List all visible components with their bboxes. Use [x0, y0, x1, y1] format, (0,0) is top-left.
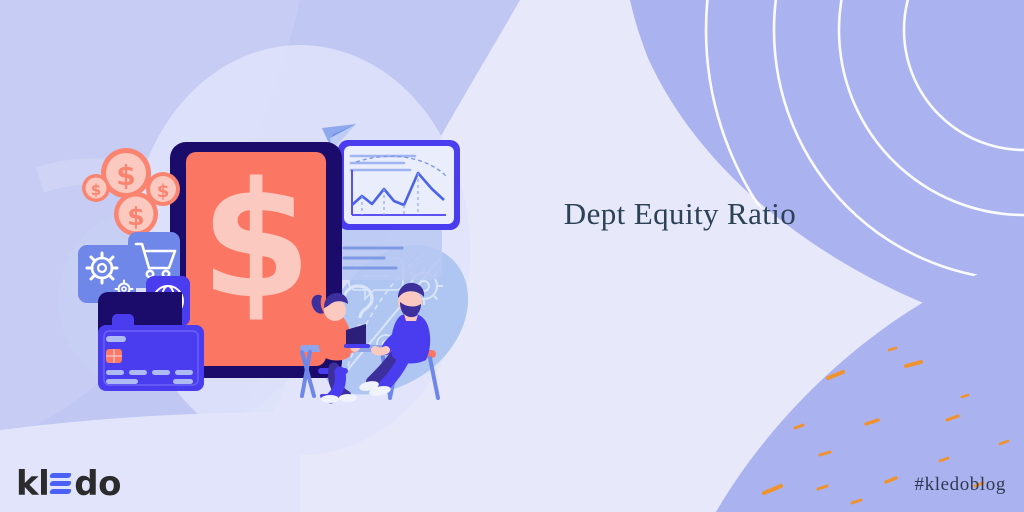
- svg-text:$: $: [91, 181, 101, 199]
- svg-text:$: $: [157, 181, 170, 202]
- page-title: Dept Equity Ratio: [430, 196, 930, 232]
- finance-dashboard-illustration: $ $ $ $ $: [0, 0, 1024, 512]
- kledo-logo[interactable]: kl do: [16, 464, 121, 504]
- svg-text:$: $: [116, 159, 135, 192]
- logo-text-before: kl: [16, 467, 49, 501]
- logo-text-after: do: [74, 467, 121, 501]
- credit-card: [98, 325, 204, 391]
- blog-banner: $ $ $ $ $: [0, 0, 1024, 512]
- coin: $: [82, 174, 110, 202]
- logo-e-mark-icon: [50, 471, 72, 497]
- dollar-sign-icon: $: [200, 147, 311, 334]
- svg-text:$: $: [127, 202, 144, 231]
- coin-stack: $ $ $ $: [82, 148, 180, 236]
- coin: $: [114, 192, 158, 236]
- hashtag-label: #kledoblog: [915, 474, 1007, 496]
